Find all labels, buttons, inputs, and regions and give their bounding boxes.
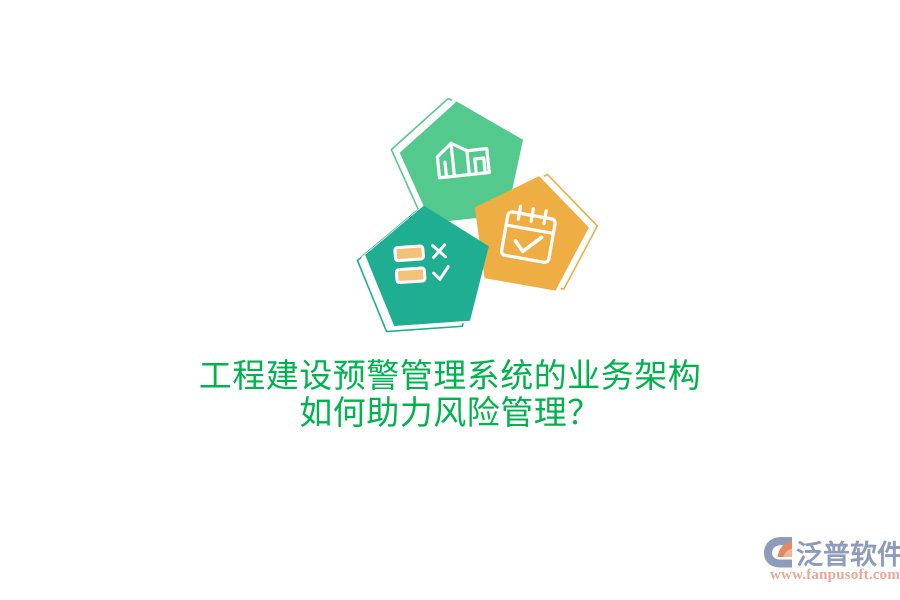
brand-url: www.fanpusoft.com [770,567,900,584]
page-title-line-1: 工程建设预警管理系统的业务架构 [0,358,900,395]
fanpu-logo-icon [762,535,800,569]
brand-watermark: 泛普软件 www.fanpusoft.com [762,533,894,589]
pentagon-cluster-illustration [340,98,610,348]
page-title: 工程建设预警管理系统的业务架构 如何助力风险管理？ [0,358,900,432]
tile-checklist [354,201,494,333]
tile-checklist-shape [362,201,494,327]
page-canvas: 工程建设预警管理系统的业务架构 如何助力风险管理？ 泛普软件 www.fanpu… [0,0,900,600]
page-title-line-2: 如何助力风险管理？ [0,395,900,432]
